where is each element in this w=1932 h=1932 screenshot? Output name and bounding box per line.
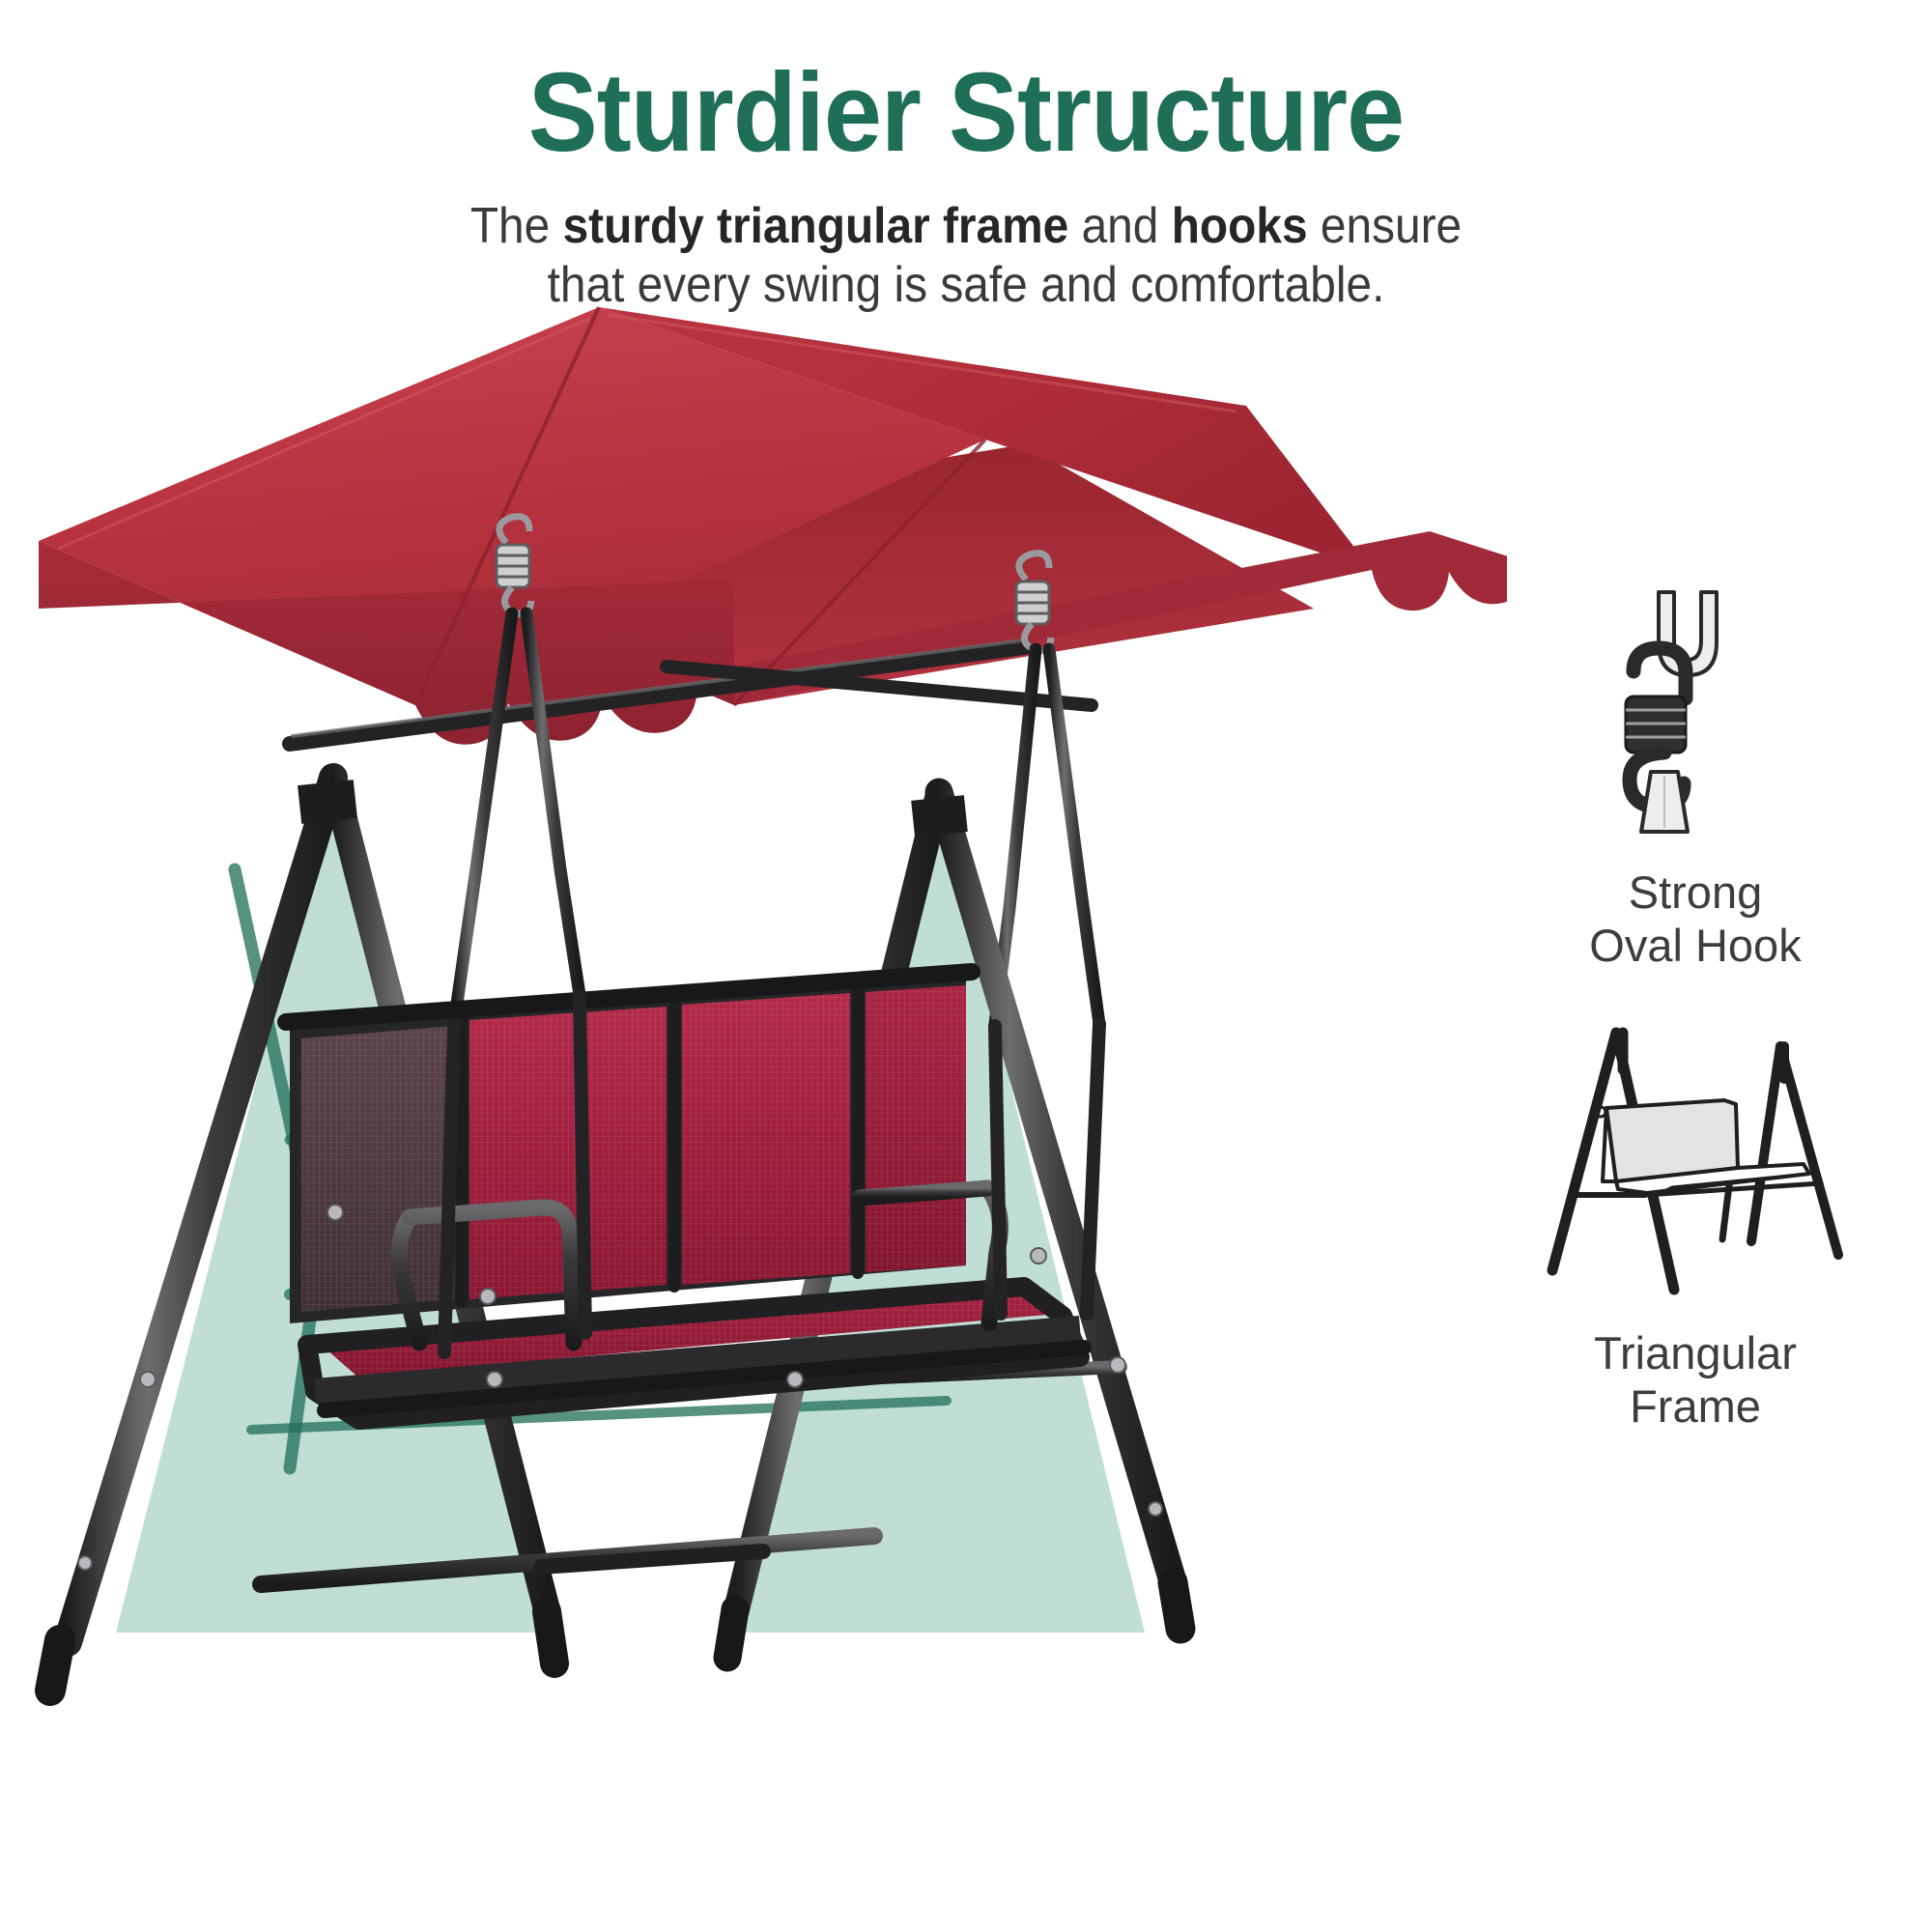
product-photo — [0, 290, 1507, 1932]
callout-label-line1: Strong — [1629, 867, 1762, 918]
seat-fabric — [469, 985, 966, 1299]
subtitle-bold-1: sturdy triangular frame — [563, 198, 1069, 254]
callout-column: Strong Oval Hook — [1488, 580, 1903, 1472]
header: Sturdier Structure The sturdy triangular… — [0, 0, 1932, 319]
subtitle-bold-2: hooks — [1172, 198, 1308, 254]
infographic-page: Sturdier Structure The sturdy triangular… — [0, 0, 1932, 1932]
callout-strong-oval-hook: Strong Oval Hook — [1488, 580, 1903, 973]
subtitle-text-3: ensure — [1308, 198, 1463, 254]
subtitle-text-1: The — [470, 198, 563, 254]
callout-label-line2: Frame — [1630, 1380, 1761, 1432]
callout-label-triangular-frame: Triangular Frame — [1488, 1326, 1903, 1434]
subtitle-text-2: and — [1068, 198, 1171, 254]
callout-triangular-frame: Triangular Frame — [1488, 1011, 1903, 1434]
callout-label-line2: Oval Hook — [1589, 920, 1801, 971]
callout-label-strong-oval-hook: Strong Oval Hook — [1488, 866, 1903, 973]
oval-hook-icon — [1488, 580, 1903, 840]
page-title: Sturdier Structure — [68, 0, 1864, 168]
triangular-frame-diagram-icon — [1488, 1011, 1903, 1301]
callout-label-line1: Triangular — [1594, 1327, 1797, 1378]
